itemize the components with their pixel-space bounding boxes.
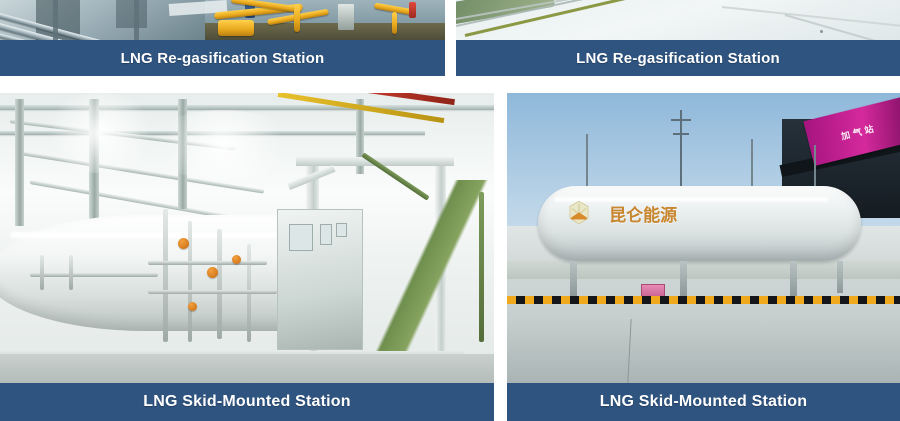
caption-label: LNG Skid-Mounted Station bbox=[600, 393, 807, 411]
gallery-panel-bottom-left[interactable]: LNG Skid-Mounted Station bbox=[0, 93, 494, 421]
tank-support-leg bbox=[680, 261, 687, 296]
caption-bar-top-right: LNG Re-gasification Station bbox=[456, 40, 900, 76]
pavement bbox=[507, 319, 900, 383]
support-post bbox=[134, 0, 139, 40]
support-post bbox=[53, 0, 58, 40]
floor bbox=[0, 354, 494, 383]
caption-bar-top-left: LNG Re-gasification Station bbox=[0, 40, 445, 76]
process-pipe bbox=[30, 273, 158, 277]
photo-lng-skid-mounted-station-1 bbox=[0, 93, 494, 383]
tank-support-leg bbox=[837, 261, 843, 293]
caption-label: LNG Re-gasification Station bbox=[121, 50, 325, 67]
structure-shadow-2 bbox=[116, 0, 147, 28]
tank-support-leg bbox=[790, 261, 797, 296]
transmission-tower bbox=[680, 110, 682, 197]
pavement-line bbox=[722, 6, 900, 28]
window-glare bbox=[40, 93, 160, 173]
structural-column bbox=[15, 99, 24, 227]
process-pipe bbox=[148, 290, 276, 294]
tank-brand-text: 昆仑能源 bbox=[609, 200, 806, 226]
valve-handwheel bbox=[178, 238, 189, 249]
control-cabinet bbox=[277, 209, 363, 350]
red-valve bbox=[409, 2, 416, 18]
caption-label: LNG Skid-Mounted Station bbox=[143, 393, 350, 411]
caption-bar-bottom-left: LNG Skid-Mounted Station bbox=[0, 383, 494, 421]
photo-lng-skid-mounted-station-2: 加气站 昆仑能源 bbox=[507, 93, 900, 383]
photo-scene: 加气站 昆仑能源 bbox=[507, 93, 900, 383]
ground-detail bbox=[820, 30, 823, 33]
image-gallery: LNG Re-gasification Station LNG Re-gasif… bbox=[0, 0, 900, 421]
process-pipe bbox=[163, 209, 168, 342]
photo-scene bbox=[456, 0, 900, 40]
petrochina-kunlun-logo bbox=[566, 200, 592, 226]
tank-highlight bbox=[10, 232, 287, 238]
window-glare bbox=[148, 110, 298, 180]
process-pipe bbox=[188, 221, 192, 343]
photo-scene bbox=[0, 0, 445, 40]
photo-lng-regasification-station-1 bbox=[0, 0, 445, 40]
safety-barrier bbox=[507, 296, 900, 304]
light-pole bbox=[814, 145, 816, 191]
process-pipe bbox=[148, 261, 267, 265]
cabinet-window bbox=[289, 224, 313, 251]
gallery-panel-top-right[interactable]: LNG Re-gasification Station bbox=[456, 0, 900, 76]
cabinet-indicator bbox=[320, 224, 332, 245]
photo-scene bbox=[0, 93, 494, 383]
process-pipe bbox=[69, 255, 73, 290]
process-pipe bbox=[40, 255, 44, 290]
access-stairway bbox=[375, 180, 494, 354]
gas-pipe bbox=[294, 4, 300, 32]
stair-rail-post bbox=[479, 192, 484, 343]
caption-label: LNG Re-gasification Station bbox=[576, 50, 780, 67]
valve-handwheel bbox=[188, 302, 197, 311]
photo-lng-regasification-station-2 bbox=[456, 0, 900, 40]
equipment-cabinet bbox=[338, 4, 354, 30]
tank-support-leg bbox=[570, 261, 577, 296]
gas-pipe bbox=[392, 12, 397, 34]
process-pipe bbox=[217, 229, 222, 339]
gallery-panel-bottom-right[interactable]: 加气站 昆仑能源 bbox=[507, 93, 900, 421]
gallery-panel-top-left[interactable]: LNG Re-gasification Station bbox=[0, 0, 445, 76]
cabinet-indicator bbox=[336, 223, 346, 238]
gas-pipe bbox=[218, 20, 254, 36]
caption-bar-bottom-right: LNG Skid-Mounted Station bbox=[507, 383, 900, 421]
